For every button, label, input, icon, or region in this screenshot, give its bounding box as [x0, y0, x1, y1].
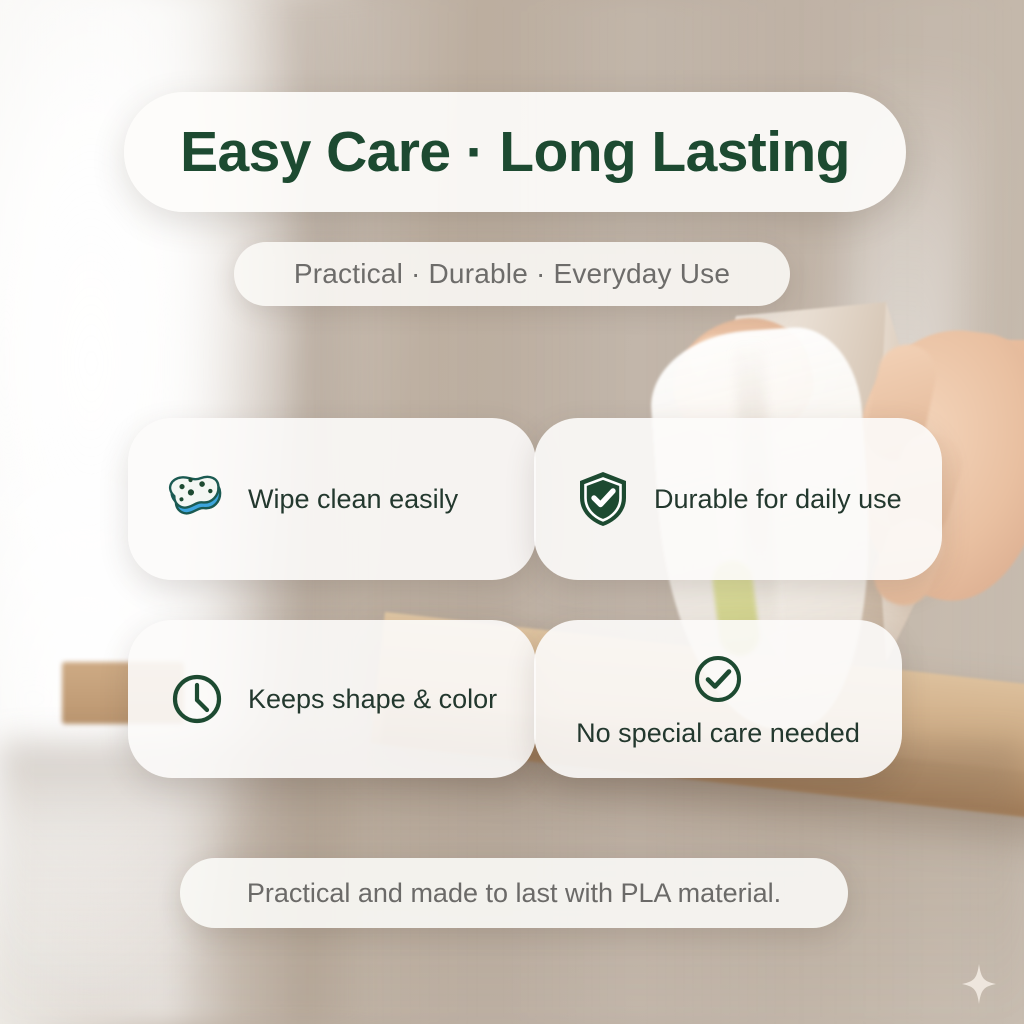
check-circle-icon [689, 650, 747, 708]
title-pill: Easy Care · Long Lasting [124, 92, 906, 212]
sparkle-icon [962, 964, 996, 1004]
feature-card-no-special-care[interactable]: No special care needed [534, 620, 902, 778]
sponge-icon [168, 470, 226, 528]
clock-icon [168, 670, 226, 728]
footer-text: Practical and made to last with PLA mate… [247, 878, 781, 909]
feature-card-keeps-shape[interactable]: Keeps shape & color [128, 620, 536, 778]
feature-card-durable[interactable]: Durable for daily use [534, 418, 942, 580]
feature-label: Keeps shape & color [248, 684, 497, 715]
feature-label: Wipe clean easily [248, 484, 458, 515]
shield-check-icon [574, 470, 632, 528]
overlay-layer: Easy Care · Long Lasting Practical · Dur… [0, 0, 1024, 1024]
poster-canvas: Easy Care · Long Lasting Practical · Dur… [0, 0, 1024, 1024]
feature-label: Durable for daily use [654, 484, 902, 515]
feature-label: No special care needed [576, 718, 860, 749]
footer-pill: Practical and made to last with PLA mate… [180, 858, 848, 928]
page-subtitle: Practical · Durable · Everyday Use [294, 258, 730, 290]
feature-card-wipe-clean[interactable]: Wipe clean easily [128, 418, 536, 580]
page-title: Easy Care · Long Lasting [180, 119, 850, 185]
subtitle-pill: Practical · Durable · Everyday Use [234, 242, 790, 306]
